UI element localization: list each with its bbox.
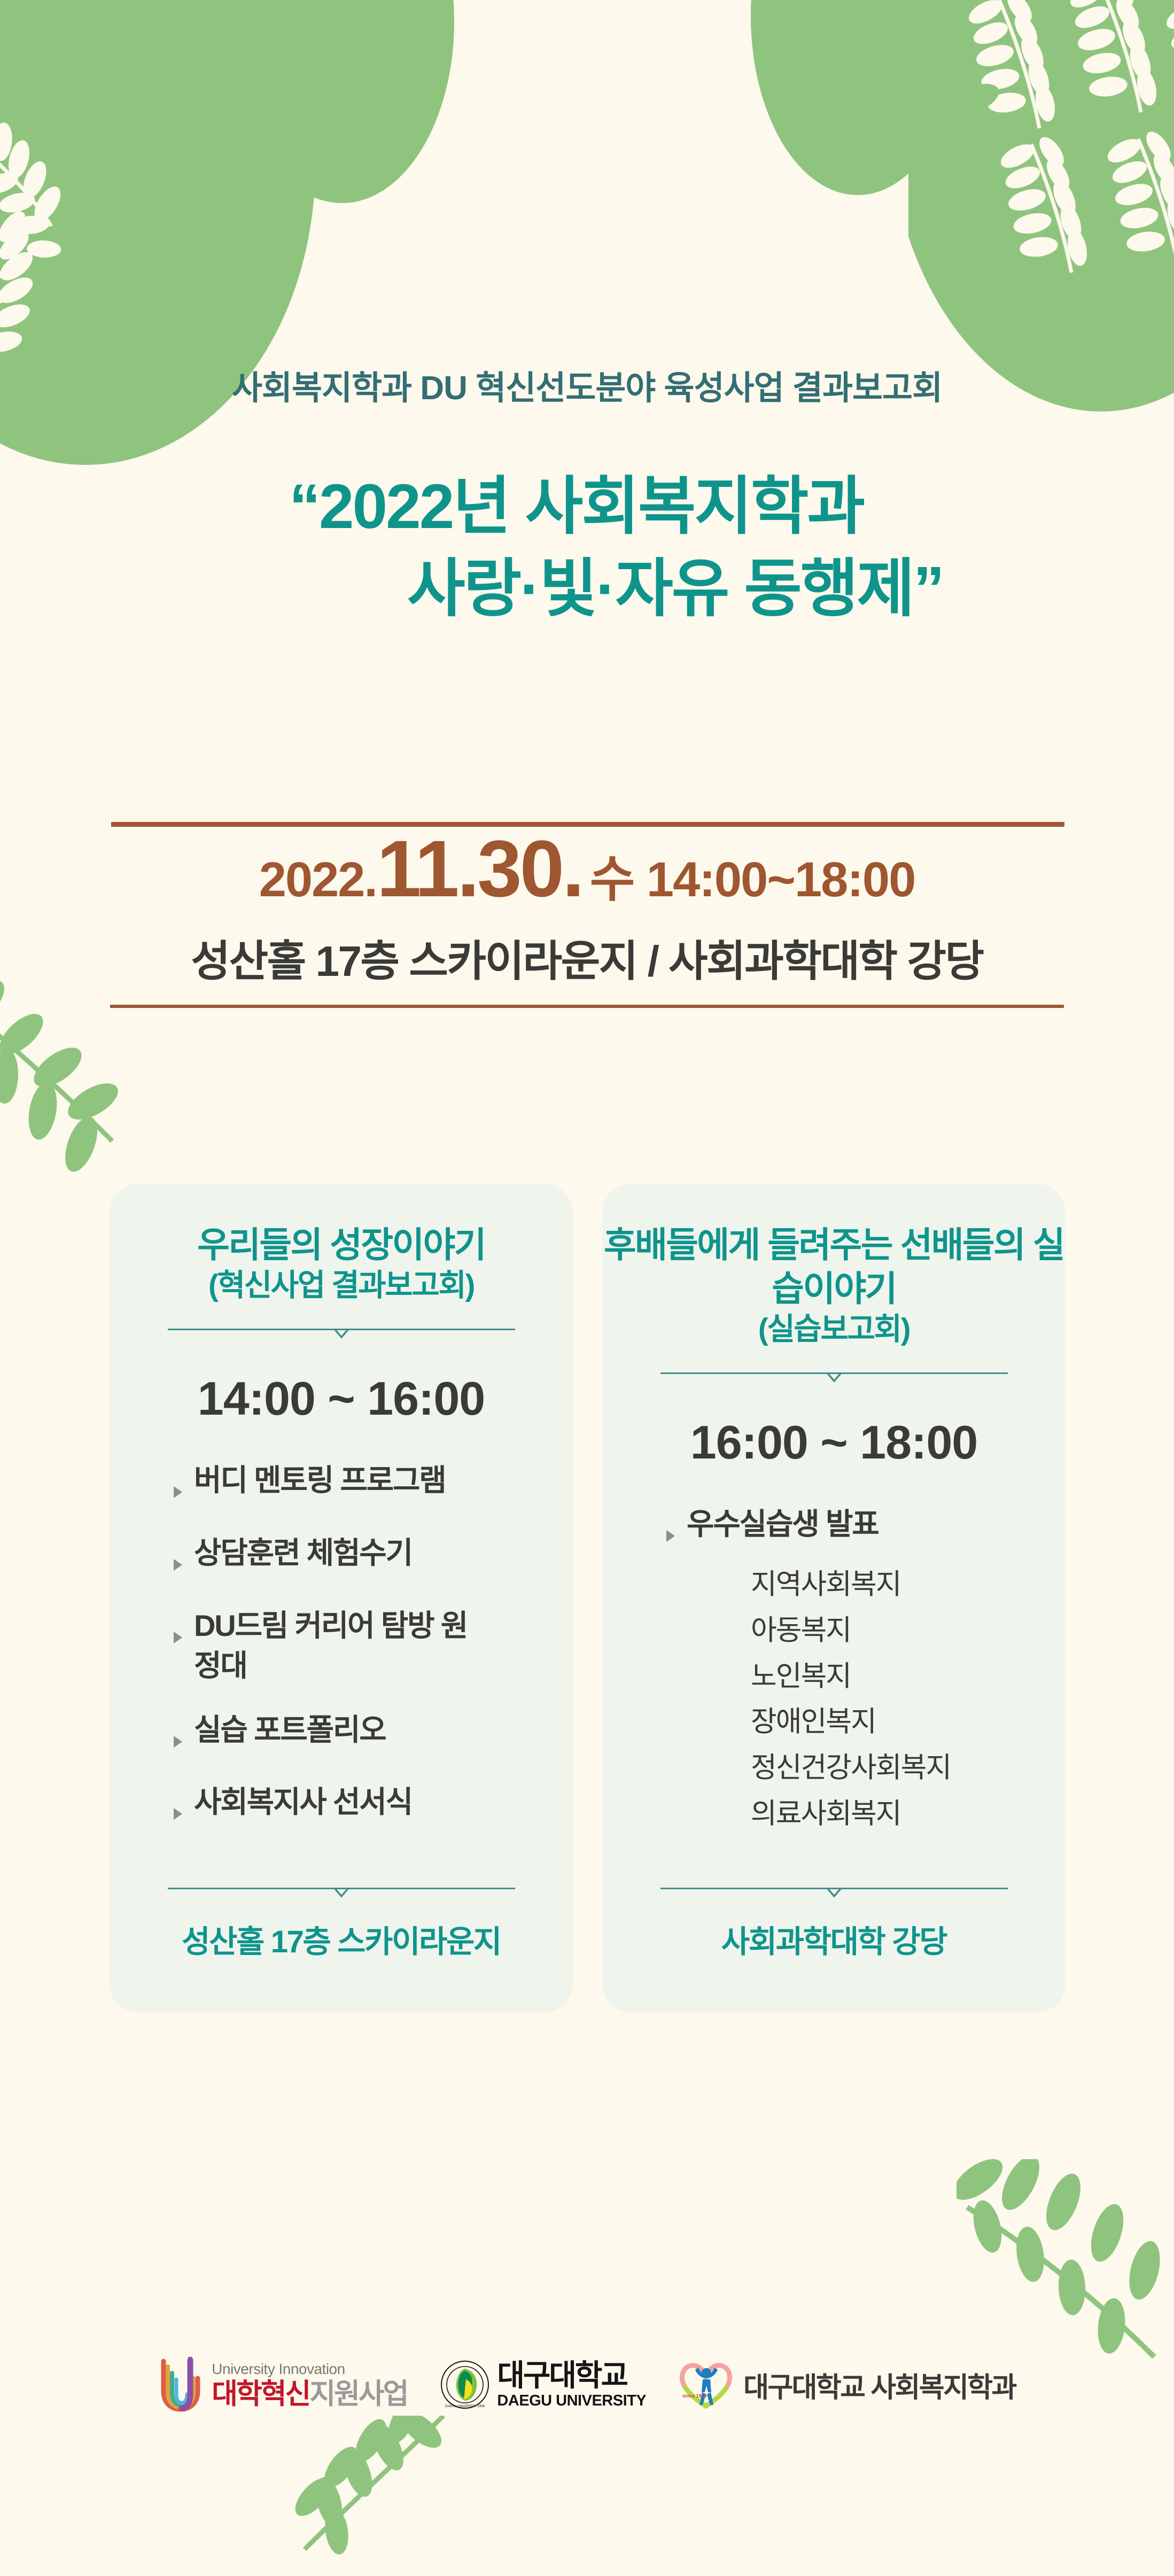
- divider-chevron-bottom: [168, 1887, 515, 1898]
- card-item-list: 우수실습생 발표 지역사회복지 아동복지 노인복지 장애인복지 정신건강사회복지…: [665, 1504, 1066, 1837]
- sublist-item: 지역사회복지: [751, 1562, 1066, 1608]
- chevron-down-icon: [331, 1328, 352, 1339]
- triangle-bullet-icon: [173, 1782, 184, 1831]
- oval-blob-top-right-inner: [745, 0, 970, 230]
- list-item-label: 우수실습생 발표: [687, 1504, 878, 1545]
- list-item-label: 사회복지사 선서식: [194, 1782, 412, 1822]
- card-subtitle: (혁신사업 결과보고회): [110, 1267, 573, 1305]
- triangle-bullet-icon: [173, 1533, 184, 1582]
- program-card-growth-story[interactable]: 우리들의 성장이야기 (혁신사업 결과보고회) 14:00 ~ 16:00 버디…: [110, 1184, 573, 2013]
- list-item-label: 실습 포트폴리오: [194, 1710, 386, 1750]
- sublist-item: 의료사회복지: [751, 1791, 1066, 1837]
- card-spacer: [602, 1837, 1066, 1887]
- page-title: “2022년 사회복지학과 사랑·빛·자유 동행제”: [0, 466, 1174, 630]
- eyebrow-text: 사회복지학과 DU 혁신선도분야 육성사업 결과보고회: [0, 369, 1174, 408]
- logo-ui-korean-red: 대학혁신: [212, 2378, 309, 2410]
- event-venue: 성산홀 17층 스카이라운지 / 사회과학대학 강당: [0, 927, 1174, 989]
- leaf-sprig-mid-left: [0, 981, 171, 1194]
- svg-text:DAEGU UNIVERSITY 1956: DAEGU UNIVERSITY 1956: [445, 2405, 485, 2408]
- card-spacer: [110, 1855, 573, 1887]
- sublist-item: 아동복지: [751, 1608, 1066, 1654]
- date-top-rule: [111, 822, 1064, 827]
- daegu-university-seal-icon: DAEGU UNIVERSITY 1956: [440, 2360, 489, 2409]
- program-card-practicum-story[interactable]: 후배들에게 들려주는 선배들의 실습이야기 (실습보고회) 16:00 ~ 18…: [602, 1184, 1066, 2013]
- date-month-day: 11.30.: [377, 828, 582, 909]
- chevron-down-icon: [823, 1887, 845, 1898]
- list-item: 실습 포트폴리오: [173, 1710, 573, 1759]
- sublist-item: 노인복지: [751, 1654, 1066, 1700]
- sponsor-logos: University Innovation 대학혁신지원사업 DAEGU UNI…: [0, 2357, 1174, 2412]
- logo-du-english: DAEGU UNIVERSITY: [497, 2393, 646, 2409]
- divider-chevron-bottom: [660, 1887, 1008, 1898]
- list-item-label: 상담훈련 체험수기: [194, 1533, 412, 1573]
- logo-department-korean: 대구대학교 사회복지학과: [743, 2365, 1016, 2405]
- event-date-block: 2022. 11.30. 수 14:00~18:00 성산홀 17층 스카이라운…: [0, 812, 1174, 1008]
- chevron-down-icon: [823, 1371, 845, 1383]
- card-time-range: 14:00 ~ 16:00: [110, 1371, 573, 1426]
- card-location: 사회과학대학 강당: [602, 1917, 1066, 1961]
- svg-text:since 1964: since 1964: [682, 2393, 707, 2399]
- card-time-range: 16:00 ~ 18:00: [602, 1415, 1066, 1470]
- list-item-label: DU드림 커리어 탐방 원정대: [194, 1605, 493, 1686]
- list-item: 상담훈련 체험수기: [173, 1533, 573, 1582]
- date-bottom-rule: [110, 1005, 1064, 1008]
- divider-chevron-top: [168, 1328, 515, 1339]
- oval-blob-top-center: [224, 0, 460, 235]
- university-innovation-mark-icon: [158, 2357, 204, 2412]
- chevron-down-icon: [331, 1887, 352, 1898]
- sublist-item: 정신건강사회복지: [751, 1745, 1066, 1791]
- program-cards: 우리들의 성장이야기 (혁신사업 결과보고회) 14:00 ~ 16:00 버디…: [110, 1184, 1066, 2013]
- triangle-bullet-icon: [173, 1710, 184, 1759]
- social-welfare-heart-person-icon: since 1964: [679, 2359, 735, 2410]
- card-subtitle: (실습보고회): [602, 1311, 1066, 1348]
- card-title: 우리들의 성장이야기: [110, 1223, 573, 1267]
- divider-chevron-top: [660, 1371, 1008, 1383]
- list-item: DU드림 커리어 탐방 원정대: [173, 1605, 493, 1686]
- sublist-item: 장애인복지: [751, 1699, 1066, 1745]
- card-location: 성산홀 17층 스카이라운지: [110, 1917, 573, 1961]
- leaf-sprig-bottom-left: [283, 2416, 465, 2576]
- leaf-sprig-top-right: [764, 0, 1042, 224]
- poster-header: 사회복지학과 DU 혁신선도분야 육성사업 결과보고회 “2022년 사회복지학…: [0, 369, 1174, 630]
- triangle-bullet-icon: [173, 1605, 184, 1655]
- date-row: 2022. 11.30. 수 14:00~18:00: [0, 812, 1174, 909]
- list-item: 버디 멘토링 프로그램: [173, 1460, 573, 1509]
- title-line-1: “2022년 사회복지학과: [0, 466, 1174, 548]
- date-year: 2022.: [259, 855, 377, 909]
- logo-ui-korean-gray: 지원사업: [309, 2378, 407, 2410]
- date-weekday-time: 수 14:00~18:00: [582, 855, 915, 909]
- card-item-list: 버디 멘토링 프로그램 상담훈련 체험수기 DU드림 커리어 탐방 원정대 실습…: [173, 1460, 573, 1855]
- triangle-bullet-icon: [173, 1460, 184, 1509]
- logo-du-korean: 대구대학교: [497, 2361, 646, 2391]
- triangle-bullet-icon: [665, 1504, 677, 1553]
- list-item: 우수실습생 발표: [665, 1504, 1066, 1553]
- card-sublist: 지역사회복지 아동복지 노인복지 장애인복지 정신건강사회복지 의료사회복지: [751, 1562, 1066, 1837]
- title-line-2: 사랑·빛·자유 동행제”: [0, 548, 1174, 630]
- logo-university-innovation: University Innovation 대학혁신지원사업: [158, 2357, 407, 2412]
- list-item-label: 버디 멘토링 프로그램: [194, 1460, 446, 1501]
- logo-daegu-university: DAEGU UNIVERSITY 1956 대구대학교 DAEGU UNIVER…: [440, 2360, 646, 2409]
- logo-ui-english: University Innovation: [212, 2362, 407, 2377]
- list-item: 사회복지사 선서식: [173, 1782, 573, 1831]
- logo-social-welfare-dept: since 1964 대구대학교 사회복지학과: [679, 2359, 1016, 2410]
- card-title: 후배들에게 들려주는 선배들의 실습이야기: [602, 1223, 1066, 1311]
